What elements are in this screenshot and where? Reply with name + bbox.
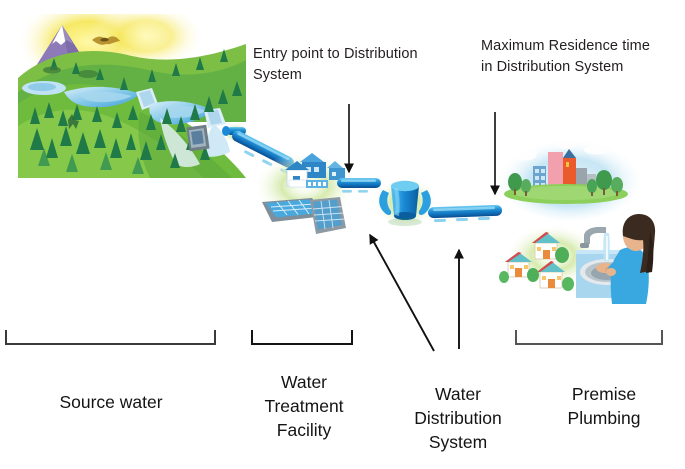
source-water-illustration <box>16 0 246 178</box>
storage-tank-illustration <box>373 177 437 229</box>
callout-entry-point: Entry point to Distribution System <box>253 44 478 85</box>
diagram-canvas: Entry point to Distribution System Maxim… <box>0 0 685 469</box>
stage-label-source-water: Source water <box>2 390 220 414</box>
stage-label-water-treatment: Water Treatment Facility <box>252 370 356 442</box>
treatment-facility-illustration <box>253 152 381 234</box>
bracket-water-treatment <box>251 330 353 345</box>
bracket-source-water <box>5 330 216 345</box>
distribution-entry-pipe <box>337 178 381 193</box>
callout-residence-time: Maximum Residence time in Distribution S… <box>481 36 685 77</box>
premise-plumbing-illustration <box>498 136 655 304</box>
stage-label-water-distribution: Water Distribution System <box>384 382 532 454</box>
distribution-main-pipe <box>428 205 502 222</box>
handwashing-illustration <box>576 214 655 304</box>
bracket-premise-plumbing <box>515 330 663 345</box>
stage-label-premise-plumbing: Premise Plumbing <box>540 382 668 430</box>
